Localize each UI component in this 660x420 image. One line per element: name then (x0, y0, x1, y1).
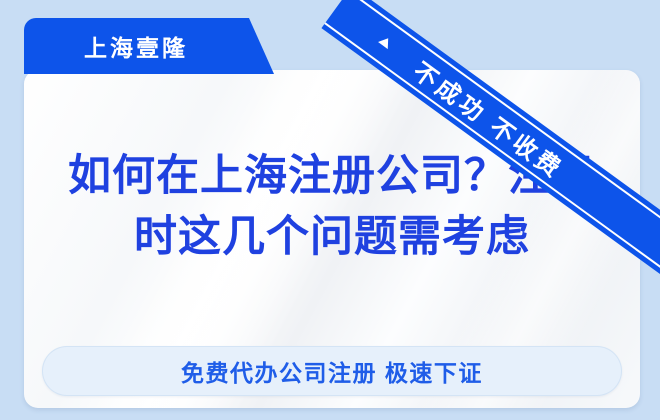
content-card: 如何在上海注册公司？注册 时这几个问题需考虑 免费代办公司注册 极速下证 (24, 70, 640, 408)
cta-pill[interactable]: 免费代办公司注册 极速下证 (42, 346, 622, 396)
poster-root: 上海壹隆 如何在上海注册公司？注册 时这几个问题需考虑 免费代办公司注册 极速下… (0, 0, 660, 420)
headline-line-2: 时这几个问题需考虑 (24, 207, 640, 268)
brand-tab-label: 上海壹隆 (24, 18, 248, 74)
triangle-up-icon (378, 35, 393, 49)
brand-tab[interactable]: 上海壹隆 (24, 18, 274, 74)
cta-pill-label: 免费代办公司注册 极速下证 (181, 354, 483, 388)
